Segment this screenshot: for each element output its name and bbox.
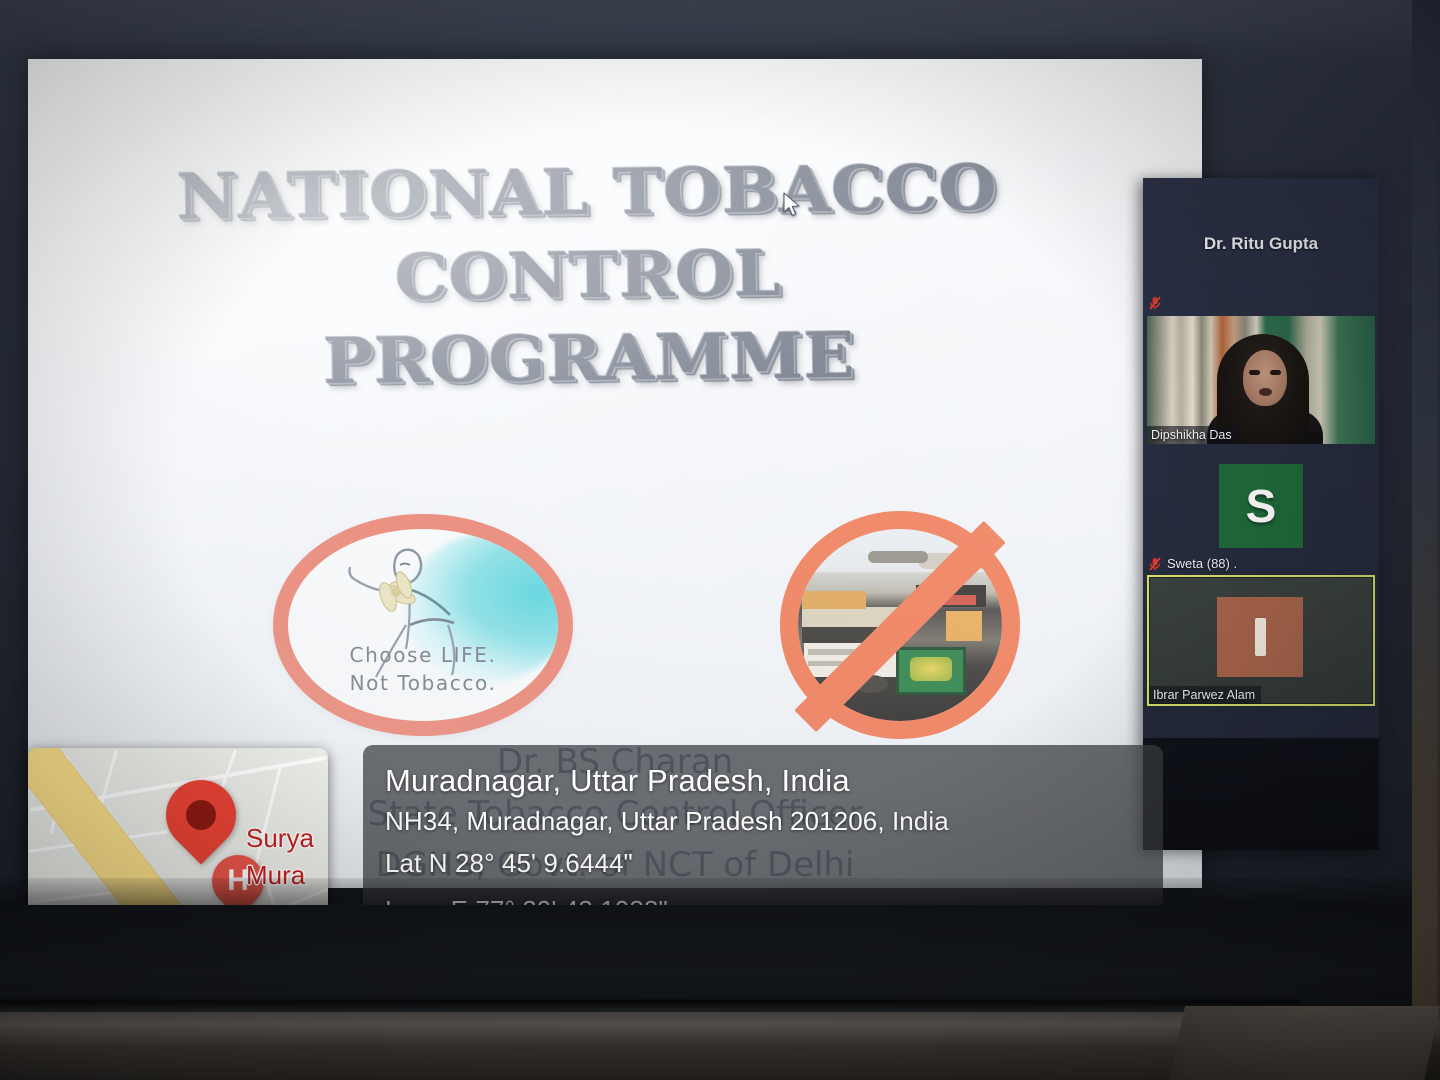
- participant-tile-ibrar-parwez-alam[interactable]: Ibrar Parwez Alam: [1147, 575, 1375, 706]
- participant-label-sweta: Sweta (88) .: [1149, 556, 1237, 571]
- map-label-mura: Mura: [246, 860, 305, 891]
- participant-name: Ibrar Parwez Alam: [1153, 688, 1255, 702]
- logo-tagline-line2: Not Tobacco.: [288, 669, 558, 697]
- laptop-screen-photo: NATIONAL TOBACCO CONTROL PROGRAMME: [0, 0, 1440, 1080]
- gps-latitude: Lat N 28° 45' 9.6444": [385, 840, 1163, 887]
- mic-muted-icon: [1149, 557, 1161, 571]
- participant-mouth: [1259, 388, 1272, 396]
- participant-avatar-ibrar: [1217, 597, 1303, 677]
- slide-title-line2: PROGRAMME: [28, 310, 1183, 407]
- slide-title-line1: NATIONAL TOBACCO CONTROL: [176, 150, 997, 314]
- no-tobacco-sign: [780, 511, 1020, 739]
- participant-avatar-sweta[interactable]: S: [1219, 464, 1303, 548]
- participant-name-bar: Dipshikha Das: [1147, 426, 1238, 444]
- participant-tile-dipshikha-das[interactable]: Dipshikha Das: [1143, 316, 1379, 444]
- zoom-host-name: Dr. Ritu Gupta: [1143, 234, 1379, 254]
- participant-video-feed: [1147, 316, 1375, 444]
- laptop-deck-edge: [1169, 1006, 1440, 1080]
- participant-face: [1243, 350, 1287, 406]
- gps-place: Muradnagar, Uttar Pradesh, India: [385, 759, 1163, 803]
- logo-tagline-line1: Choose LIFE.: [350, 643, 497, 667]
- mic-muted-icon: [1149, 296, 1161, 310]
- slide-title: NATIONAL TOBACCO CONTROL PROGRAMME: [28, 144, 1183, 407]
- participant-name: Dipshikha Das: [1151, 428, 1232, 442]
- participant-name-bar: Ibrar Parwez Alam: [1149, 686, 1261, 704]
- map-label-surya: Surya: [246, 823, 314, 854]
- panel-shadow: [1143, 738, 1379, 850]
- participant-name: Sweta (88) .: [1167, 556, 1237, 571]
- participant-avatar-initial: S: [1246, 479, 1277, 533]
- participant-avatar-initial: [1255, 618, 1266, 656]
- logo-tagline: Choose LIFE. Not Tobacco.: [288, 641, 558, 698]
- participant-mic-status-dipshikha: [1149, 296, 1161, 310]
- gps-address: NH34, Muradnagar, Uttar Pradesh 201206, …: [385, 803, 1163, 840]
- zoom-participants-panel[interactable]: Dr. Ritu Gupta: [1143, 178, 1379, 850]
- choose-life-logo: Choose LIFE. Not Tobacco.: [273, 514, 573, 736]
- bezel-sheen: [0, 0, 1412, 62]
